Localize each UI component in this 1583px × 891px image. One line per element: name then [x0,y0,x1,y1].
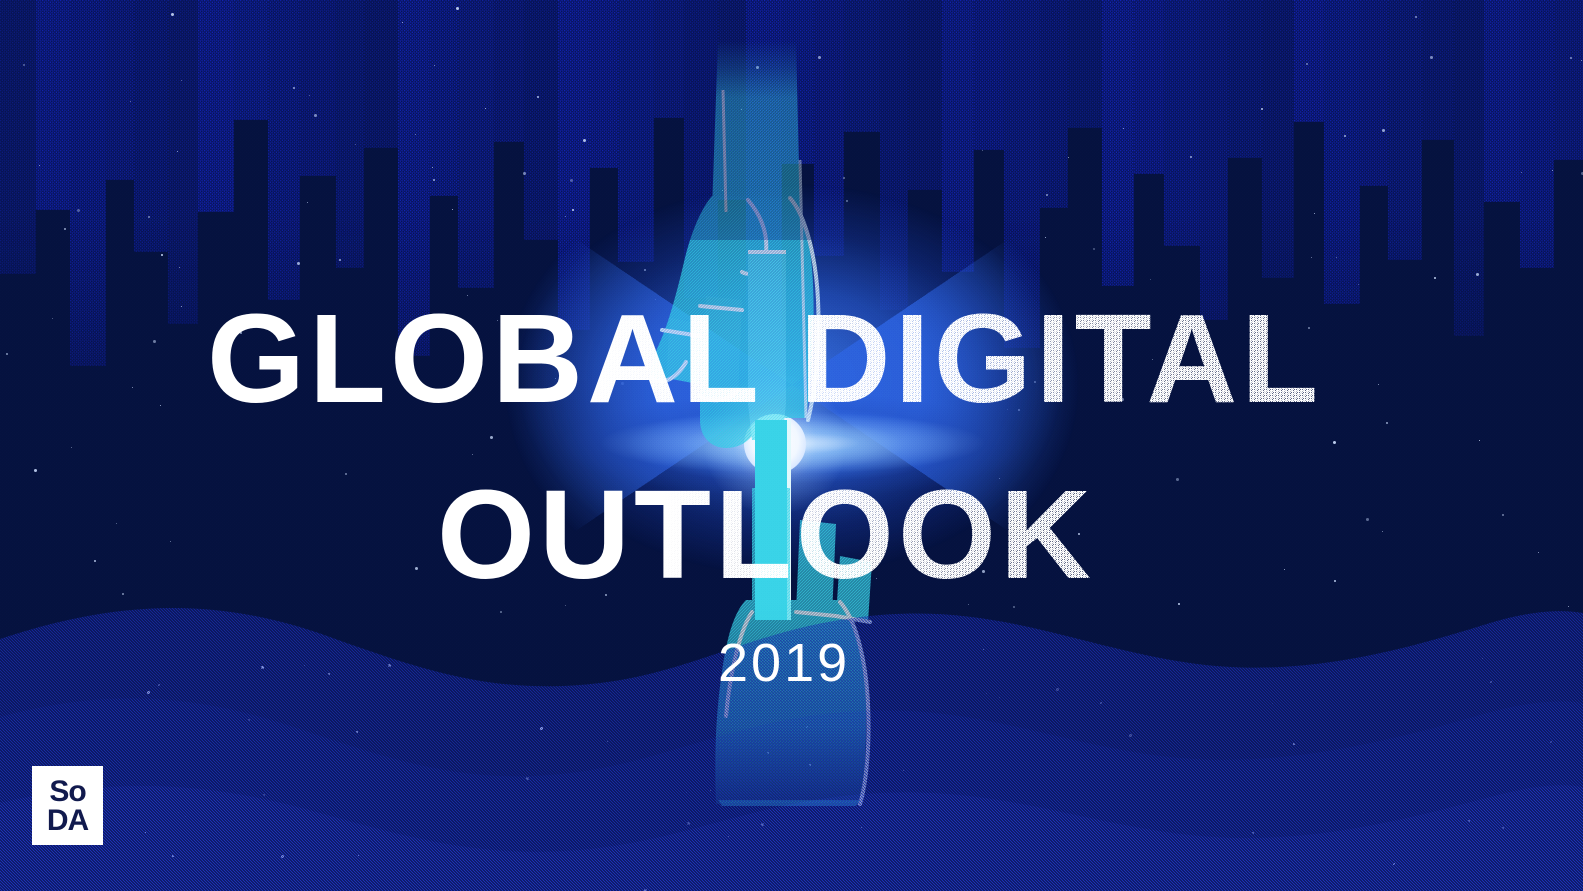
soda-logo-line-2: DA [47,807,88,836]
skyline-building [1262,0,1294,278]
skyline-building [1422,0,1454,140]
skyline-building [1360,0,1388,186]
skyline-building [1164,0,1200,246]
skyline-building [1554,0,1583,160]
year-label: 2019 [718,636,850,690]
skyline-building [1134,0,1164,174]
skyline-building [1200,0,1228,320]
skyline-building [1388,0,1422,260]
poster-canvas: GLOBAL DIGITAL OUTLOOK 2019 So DA [0,0,1583,891]
skyline-building [134,0,168,252]
skyline-building [1454,0,1484,336]
skyline-building [364,0,398,148]
skyline-building [70,0,106,366]
skyline-building [300,0,336,176]
skyline-building [36,0,70,210]
glowing-orb-icon [744,414,806,474]
skyline-building [0,0,36,274]
skyline-building [234,0,268,120]
skyline-building [1520,0,1554,268]
skyline-building [1294,0,1324,122]
skyline-building [1068,0,1102,128]
soda-logo-line-1: So [49,778,85,807]
skyline-building [844,0,880,132]
skyline-building [1484,0,1520,202]
skyline-building [336,0,364,268]
skyline-building [398,0,430,356]
skyline-building [430,0,458,196]
soda-logo[interactable]: So DA [32,766,103,845]
skyline-building [654,0,684,118]
skyline-building [106,0,134,180]
skyline-building [198,0,234,212]
skyline-building [168,0,198,324]
skyline-building [1228,0,1262,158]
skyline-building [268,0,300,300]
skyline-building [1324,0,1360,304]
